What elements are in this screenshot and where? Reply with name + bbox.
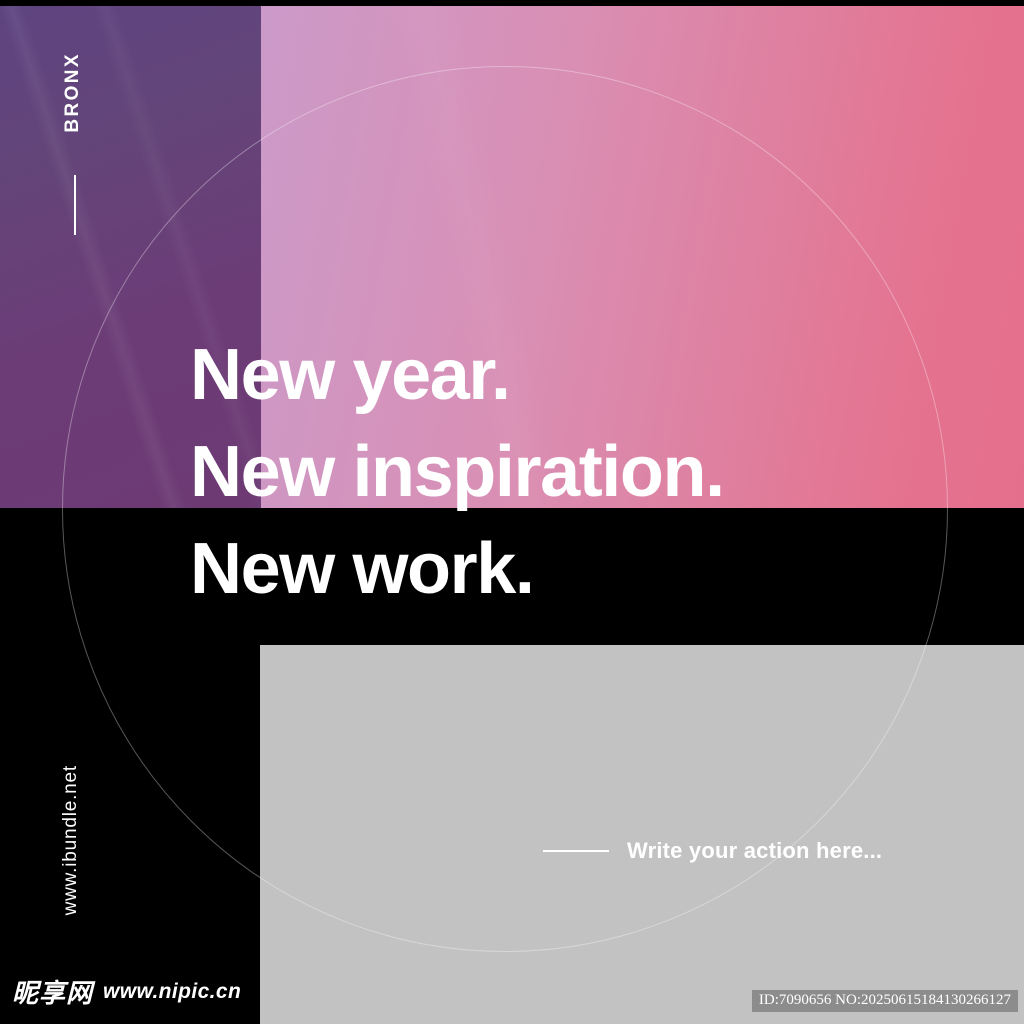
cta-rule-divider [543, 850, 609, 852]
poster-canvas: BRONX www.ibundle.net New year. New insp… [0, 0, 1024, 1024]
headline: New year. New inspiration. New work. [190, 327, 1010, 618]
headline-line-2: New inspiration. [190, 424, 1010, 521]
brand-rule-divider [74, 175, 76, 235]
grey-block [260, 645, 1024, 1024]
website-label: www.ibundle.net [60, 765, 82, 915]
nipic-url: www.nipic.cn [103, 980, 241, 1004]
brand-label: BRONX [62, 52, 84, 133]
cta-text: Write your action here... [627, 838, 882, 864]
headline-line-1: New year. [190, 327, 1010, 424]
stock-watermark: 昵享网 www.nipic.cn [12, 973, 241, 1010]
headline-line-3: New work. [190, 521, 1010, 618]
call-to-action: Write your action here... [543, 838, 882, 864]
stock-id-tag: ID:7090656 NO:20250615184130266127 [752, 990, 1018, 1012]
nipic-logo: 昵享网 [12, 973, 93, 1010]
